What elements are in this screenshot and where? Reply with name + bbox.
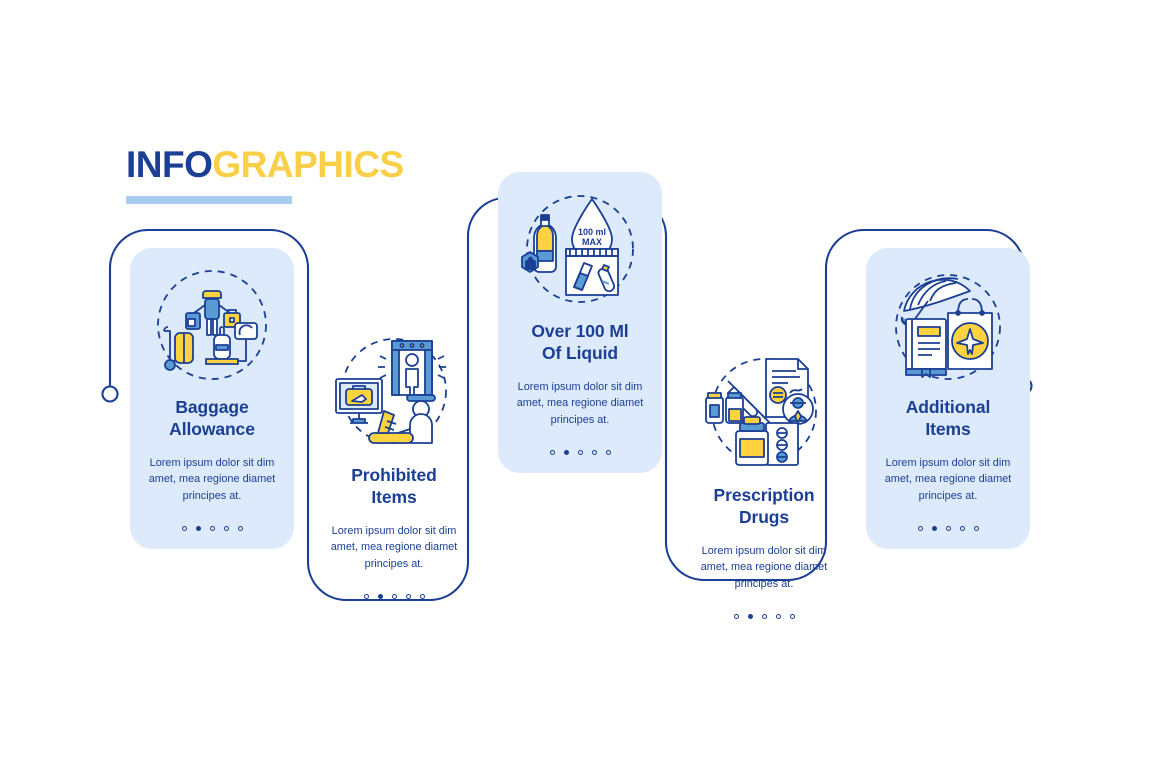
additional-items-icon xyxy=(873,262,1023,390)
card-title-line-2: Items xyxy=(371,487,416,507)
step-dot[interactable] xyxy=(592,450,597,455)
card-title-line-1: Baggage xyxy=(175,397,248,417)
title-part-info: INFO xyxy=(126,144,212,185)
step-dot[interactable] xyxy=(364,594,369,599)
step-card-baggage-allowance[interactable]: Baggage Allowance Lorem ipsum dolor sit … xyxy=(130,248,294,549)
card-title-line-2: Of Liquid xyxy=(542,343,618,363)
droplet-label-line-2: MAX xyxy=(582,237,602,247)
step-dots[interactable] xyxy=(182,526,243,531)
card-title-line-2: Items xyxy=(925,419,970,439)
step-dot[interactable] xyxy=(946,526,951,531)
step-dot[interactable] xyxy=(578,450,583,455)
card-title: Prohibited Items xyxy=(351,464,437,509)
step-dot[interactable] xyxy=(238,526,243,531)
step-dots[interactable] xyxy=(734,614,795,619)
step-card-over-100-ml-of-liquid[interactable]: 100 ml MAX xyxy=(498,172,662,473)
title-text: INFOGRAPHICS xyxy=(126,146,404,183)
card-body-text: Lorem ipsum dolor sit dim amet, mea regi… xyxy=(138,455,286,504)
card-title-line-2: Allowance xyxy=(169,419,255,439)
step-dots[interactable] xyxy=(550,450,611,455)
infographic-canvas: INFOGRAPHICS xyxy=(0,0,1160,772)
step-dot[interactable] xyxy=(406,594,411,599)
card-title-line-2: Drugs xyxy=(739,507,789,527)
title-underline-rule xyxy=(126,196,292,204)
step-dot[interactable] xyxy=(790,614,795,619)
card-body-text: Lorem ipsum dolor sit dim amet, mea regi… xyxy=(690,543,838,592)
card-title-line-1: Over 100 Ml xyxy=(531,321,628,341)
step-dot[interactable] xyxy=(210,526,215,531)
step-dots[interactable] xyxy=(918,526,979,531)
card-body-text: Lorem ipsum dolor sit dim amet, mea regi… xyxy=(506,379,654,428)
step-dot[interactable] xyxy=(974,526,979,531)
step-card-additional-items[interactable]: Additional Items Lorem ipsum dolor sit d… xyxy=(866,248,1030,549)
step-dot[interactable] xyxy=(606,450,611,455)
step-dot[interactable] xyxy=(960,526,965,531)
card-title: Baggage Allowance xyxy=(169,396,255,441)
prescription-drugs-icon xyxy=(689,350,839,478)
baggage-allowance-icon xyxy=(137,262,287,390)
card-body-text: Lorem ipsum dolor sit dim amet, mea regi… xyxy=(320,523,468,572)
step-card-prohibited-items[interactable]: Prohibited Items Lorem ipsum dolor sit d… xyxy=(312,316,476,617)
card-title: Over 100 Ml Of Liquid xyxy=(531,320,628,365)
step-dot[interactable] xyxy=(734,614,739,619)
liquid-limit-icon: 100 ml MAX xyxy=(505,186,655,314)
step-dot[interactable] xyxy=(420,594,425,599)
path-start-endpoint xyxy=(103,387,118,402)
step-dot-active[interactable] xyxy=(564,450,569,455)
step-dot-active[interactable] xyxy=(378,594,383,599)
step-card-prescription-drugs[interactable]: Prescription Drugs Lorem ipsum dolor sit… xyxy=(682,336,846,637)
step-dot-active[interactable] xyxy=(196,526,201,531)
step-dot[interactable] xyxy=(776,614,781,619)
step-dot[interactable] xyxy=(224,526,229,531)
card-title-line-1: Prohibited xyxy=(351,465,437,485)
step-dot[interactable] xyxy=(392,594,397,599)
page-title: INFOGRAPHICS xyxy=(126,146,404,204)
title-part-graphics: GRAPHICS xyxy=(212,144,403,185)
step-dot[interactable] xyxy=(182,526,187,531)
step-dots[interactable] xyxy=(364,594,425,599)
step-dot-active[interactable] xyxy=(748,614,753,619)
card-title: Prescription Drugs xyxy=(714,484,815,529)
card-title-line-1: Additional xyxy=(906,397,991,417)
droplet-label-line-1: 100 ml xyxy=(578,227,606,237)
card-body-text: Lorem ipsum dolor sit dim amet, mea regi… xyxy=(874,455,1022,504)
step-dot-active[interactable] xyxy=(932,526,937,531)
card-title-line-1: Prescription xyxy=(714,485,815,505)
step-dot[interactable] xyxy=(550,450,555,455)
step-dot[interactable] xyxy=(918,526,923,531)
step-dot[interactable] xyxy=(762,614,767,619)
card-title: Additional Items xyxy=(906,396,991,441)
prohibited-items-icon xyxy=(319,330,469,458)
